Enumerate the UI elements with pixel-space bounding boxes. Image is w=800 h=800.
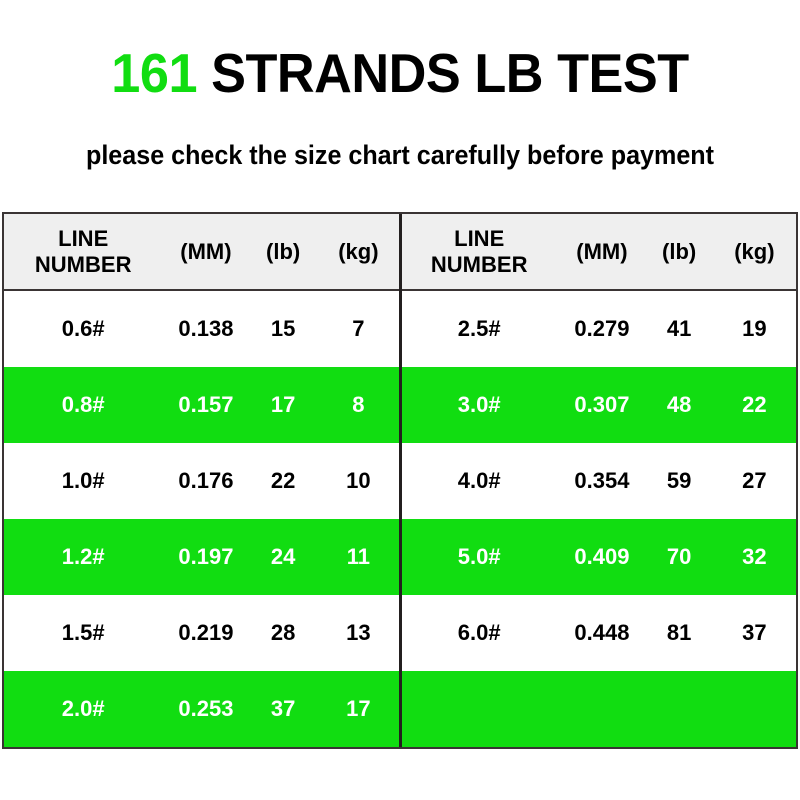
table-row: 3.0# 0.307 48 22 — [400, 367, 796, 443]
column-header-lb: (lb) — [646, 239, 713, 264]
cell-mm: 0.219 — [162, 620, 249, 645]
column-header-kg: (kg) — [713, 239, 796, 264]
cell-line-number: 5.0# — [400, 544, 558, 569]
cell-mm: 0.138 — [162, 316, 249, 341]
column-header-line-number-line2: NUMBER — [431, 252, 528, 277]
column-header-lb: (lb) — [250, 239, 317, 264]
table-row-empty — [400, 671, 796, 747]
cell-line-number: 3.0# — [400, 392, 558, 417]
cell-kg: 13 — [317, 620, 400, 645]
cell-kg: 8 — [317, 392, 400, 417]
title-rest: STRANDS LB TEST — [197, 42, 689, 104]
cell-line-number: 1.5# — [4, 620, 162, 645]
page-subtitle: please check the size chart carefully be… — [28, 140, 772, 171]
table-row: 1.2# 0.197 24 11 — [4, 519, 400, 595]
cell-line-number: 2.0# — [4, 696, 162, 721]
title-accent-number: 161 — [111, 42, 197, 104]
cell-mm: 0.253 — [162, 696, 249, 721]
cell-lb: 17 — [250, 392, 317, 417]
column-header-line-number-line1: LINE — [454, 226, 504, 251]
cell-line-number: 0.8# — [4, 392, 162, 417]
cell-mm: 0.197 — [162, 544, 249, 569]
cell-mm: 0.157 — [162, 392, 249, 417]
column-header-line-number-line2: NUMBER — [35, 252, 132, 277]
size-chart-page: 161 STRANDS LB TEST please check the siz… — [0, 0, 800, 800]
table-row: 6.0# 0.448 81 37 — [400, 595, 796, 671]
cell-line-number: 4.0# — [400, 468, 558, 493]
cell-lb: 59 — [646, 468, 713, 493]
page-title: 161 STRANDS LB TEST — [0, 46, 800, 101]
column-header-kg: (kg) — [317, 239, 400, 264]
cell-line-number: 2.5# — [400, 316, 558, 341]
table-row: 4.0# 0.354 59 27 — [400, 443, 796, 519]
cell-line-number: 1.0# — [4, 468, 162, 493]
cell-kg: 32 — [713, 544, 796, 569]
cell-lb: 22 — [250, 468, 317, 493]
cell-kg: 22 — [713, 392, 796, 417]
cell-kg: 11 — [317, 544, 400, 569]
cell-lb: 81 — [646, 620, 713, 645]
table-half-left: LINE NUMBER (MM) (lb) (kg) 0.6# 0.138 15… — [4, 214, 400, 747]
cell-mm: 0.448 — [558, 620, 645, 645]
table-row: 2.0# 0.253 37 17 — [4, 671, 400, 747]
column-header-mm: (MM) — [162, 239, 249, 264]
table-header-row: LINE NUMBER (MM) (lb) (kg) — [400, 214, 796, 291]
table-center-divider — [399, 214, 402, 747]
cell-kg: 17 — [317, 696, 400, 721]
cell-lb: 48 — [646, 392, 713, 417]
table-header-row: LINE NUMBER (MM) (lb) (kg) — [4, 214, 400, 291]
title-text: 161 STRANDS LB TEST — [20, 46, 780, 101]
cell-lb: 28 — [250, 620, 317, 645]
cell-lb: 15 — [250, 316, 317, 341]
column-header-line-number-line1: LINE — [58, 226, 108, 251]
column-header-line-number: LINE NUMBER — [4, 226, 162, 277]
table-row: 0.8# 0.157 17 8 — [4, 367, 400, 443]
table-row: 1.0# 0.176 22 10 — [4, 443, 400, 519]
cell-line-number: 0.6# — [4, 316, 162, 341]
cell-lb: 37 — [250, 696, 317, 721]
cell-lb: 41 — [646, 316, 713, 341]
cell-lb: 70 — [646, 544, 713, 569]
cell-kg: 27 — [713, 468, 796, 493]
table-row: 2.5# 0.279 41 19 — [400, 291, 796, 367]
cell-line-number: 6.0# — [400, 620, 558, 645]
table-row: 1.5# 0.219 28 13 — [4, 595, 400, 671]
cell-mm: 0.354 — [558, 468, 645, 493]
cell-kg: 7 — [317, 316, 400, 341]
table-row: 5.0# 0.409 70 32 — [400, 519, 796, 595]
column-header-line-number: LINE NUMBER — [400, 226, 558, 277]
cell-mm: 0.409 — [558, 544, 645, 569]
cell-kg: 10 — [317, 468, 400, 493]
cell-kg: 19 — [713, 316, 796, 341]
cell-kg: 37 — [713, 620, 796, 645]
table-half-right: LINE NUMBER (MM) (lb) (kg) 2.5# 0.279 41… — [400, 214, 796, 747]
cell-mm: 0.176 — [162, 468, 249, 493]
size-chart-table: LINE NUMBER (MM) (lb) (kg) 0.6# 0.138 15… — [2, 212, 798, 749]
cell-mm: 0.307 — [558, 392, 645, 417]
cell-mm: 0.279 — [558, 316, 645, 341]
cell-lb: 24 — [250, 544, 317, 569]
table-row: 0.6# 0.138 15 7 — [4, 291, 400, 367]
column-header-mm: (MM) — [558, 239, 645, 264]
cell-line-number: 1.2# — [4, 544, 162, 569]
